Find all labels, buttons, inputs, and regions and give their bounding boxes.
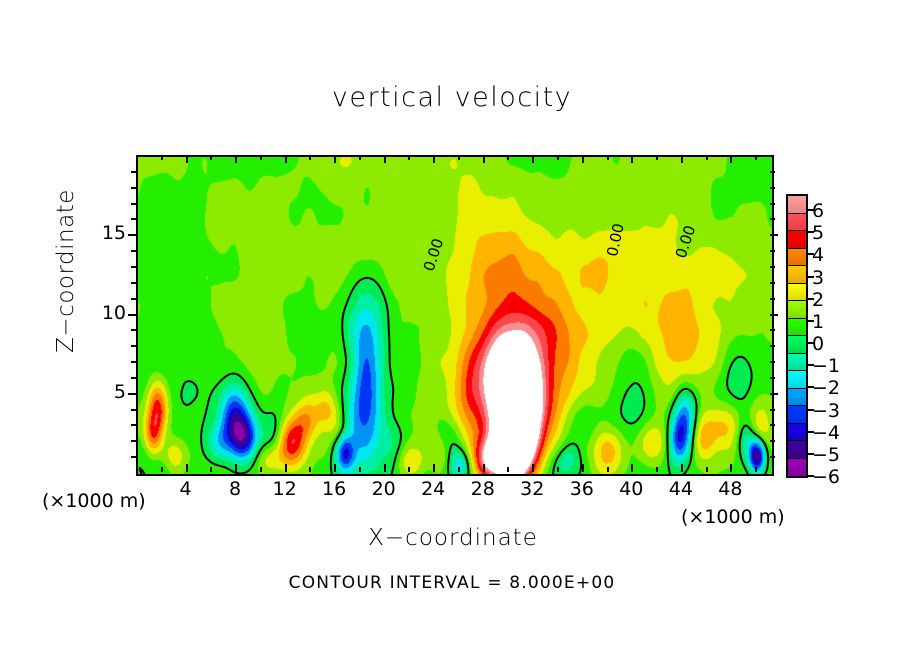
y-tick-label: 5 xyxy=(86,381,126,403)
x-tick-mark xyxy=(582,155,584,163)
colorbar-band xyxy=(788,231,806,249)
x-tick-mark xyxy=(235,464,237,472)
colorbar-band xyxy=(788,301,806,319)
x-tick-mark xyxy=(730,464,732,472)
x-tick-mark xyxy=(483,155,485,163)
colorbar-band xyxy=(788,354,806,372)
x-minor-tick-mark xyxy=(161,155,163,160)
colorbar-band xyxy=(788,424,806,442)
x-tick-mark xyxy=(334,464,336,472)
y-tick-mark xyxy=(770,393,778,395)
svg-text:0.00: 0.00 xyxy=(420,236,447,273)
x-minor-tick-mark xyxy=(408,155,410,160)
colorbar-label: −2 xyxy=(812,377,840,399)
x-minor-tick-mark xyxy=(706,155,708,160)
y-tick-mark xyxy=(770,234,778,236)
contour-label: 0.00 xyxy=(420,236,447,273)
colorbar-band xyxy=(788,406,806,424)
x-minor-tick-mark xyxy=(260,155,262,160)
x-tick-mark xyxy=(631,155,633,163)
y-minor-tick-mark xyxy=(770,250,775,252)
y-minor-tick-mark xyxy=(770,266,775,268)
colorbar-label: 3 xyxy=(812,267,824,289)
x-minor-tick-mark xyxy=(656,467,658,472)
colorbar[interactable] xyxy=(786,194,808,478)
y-minor-tick-mark xyxy=(770,171,775,173)
x-tick-mark xyxy=(433,155,435,163)
colorbar-band xyxy=(788,389,806,407)
x-minor-tick-mark xyxy=(309,155,311,160)
x-tick-mark xyxy=(730,155,732,163)
y-minor-tick-mark xyxy=(770,187,775,189)
x-minor-tick-mark xyxy=(260,467,262,472)
y-minor-tick-mark xyxy=(770,361,775,363)
y-minor-tick-mark xyxy=(131,409,136,411)
x-minor-tick-mark xyxy=(309,467,311,472)
y-minor-tick-mark xyxy=(770,282,775,284)
colorbar-label: −4 xyxy=(812,422,840,444)
y-tick-mark xyxy=(770,314,778,316)
x-tick-mark xyxy=(186,155,188,163)
colorbar-label: 4 xyxy=(812,244,824,266)
y-axis-label: Z−coordinate xyxy=(53,161,79,381)
x-tick-label: 48 xyxy=(700,478,760,500)
y-minor-tick-mark xyxy=(131,282,136,284)
colorbar-label: 6 xyxy=(812,200,824,222)
y-minor-tick-mark xyxy=(770,440,775,442)
x-minor-tick-mark xyxy=(656,155,658,160)
y-minor-tick-mark xyxy=(131,424,136,426)
y-tick-label: 10 xyxy=(86,302,126,324)
x-minor-tick-mark xyxy=(607,467,609,472)
y-minor-tick-mark xyxy=(131,329,136,331)
y-minor-tick-mark xyxy=(131,456,136,458)
zero-contour-lines: 0.000.000.00 xyxy=(138,157,772,474)
colorbar-band xyxy=(788,214,806,232)
colorbar-label: −6 xyxy=(812,466,840,488)
colorbar-band xyxy=(788,249,806,267)
plot-area[interactable]: 0.000.000.00 xyxy=(136,155,774,476)
x-tick-mark xyxy=(285,464,287,472)
colorbar-label: 5 xyxy=(812,222,824,244)
x-tick-mark xyxy=(532,155,534,163)
colorbar-label: 0 xyxy=(812,333,824,355)
x-tick-mark xyxy=(631,464,633,472)
x-tick-mark xyxy=(334,155,336,163)
x-minor-tick-mark xyxy=(458,155,460,160)
y-minor-tick-mark xyxy=(131,345,136,347)
x-minor-tick-mark xyxy=(210,155,212,160)
page-title: vertical velocity xyxy=(0,82,904,113)
x-tick-mark xyxy=(235,155,237,163)
x-tick-mark xyxy=(384,155,386,163)
y-minor-tick-mark xyxy=(770,329,775,331)
colorbar-band xyxy=(788,441,806,459)
x-minor-tick-mark xyxy=(507,467,509,472)
colorbar-band xyxy=(788,284,806,302)
x-tick-mark xyxy=(681,155,683,163)
colorbar-band xyxy=(788,196,806,214)
x-minor-tick-mark xyxy=(557,155,559,160)
y-minor-tick-mark xyxy=(131,203,136,205)
x-tick-mark xyxy=(186,464,188,472)
colorbar-label: −3 xyxy=(812,400,840,422)
y-minor-tick-mark xyxy=(131,218,136,220)
x-tick-mark xyxy=(384,464,386,472)
y-minor-tick-mark xyxy=(770,456,775,458)
x-minor-tick-mark xyxy=(408,467,410,472)
y-minor-tick-mark xyxy=(770,409,775,411)
x-minor-tick-mark xyxy=(607,155,609,160)
y-tick-mark xyxy=(128,314,136,316)
colorbar-band xyxy=(788,266,806,284)
figure-root: vertical velocity 0.000.000.00 481216202… xyxy=(0,0,904,654)
x-minor-tick-mark xyxy=(161,467,163,472)
contour-label: 0.00 xyxy=(672,223,699,260)
x-minor-tick-mark xyxy=(359,467,361,472)
x-tick-mark xyxy=(681,464,683,472)
x-minor-tick-mark xyxy=(755,155,757,160)
x-tick-mark xyxy=(532,464,534,472)
colorbar-label: 2 xyxy=(812,289,824,311)
colorbar-band xyxy=(788,371,806,389)
y-minor-tick-mark xyxy=(770,424,775,426)
svg-text:0.00: 0.00 xyxy=(603,222,628,258)
y-minor-tick-mark xyxy=(131,440,136,442)
colorbar-band xyxy=(788,459,806,477)
x-tick-mark xyxy=(285,155,287,163)
x-minor-tick-mark xyxy=(458,467,460,472)
y-tick-mark xyxy=(128,393,136,395)
x-tick-mark xyxy=(582,464,584,472)
y-minor-tick-mark xyxy=(770,345,775,347)
x-minor-tick-mark xyxy=(359,155,361,160)
y-minor-tick-mark xyxy=(131,377,136,379)
x-minor-tick-mark xyxy=(755,467,757,472)
y-minor-tick-mark xyxy=(131,361,136,363)
colorbar-label: 1 xyxy=(812,311,824,333)
y-minor-tick-mark xyxy=(770,218,775,220)
x-minor-tick-mark xyxy=(507,155,509,160)
y-minor-tick-mark xyxy=(131,187,136,189)
y-minor-tick-mark xyxy=(770,298,775,300)
y-minor-tick-mark xyxy=(770,377,775,379)
x-minor-tick-mark xyxy=(210,467,212,472)
colorbar-band xyxy=(788,319,806,337)
colorbar-label: −1 xyxy=(812,355,840,377)
x-tick-mark xyxy=(433,464,435,472)
svg-text:0.00: 0.00 xyxy=(672,223,699,260)
y-minor-tick-mark xyxy=(131,266,136,268)
y-minor-tick-mark xyxy=(131,171,136,173)
contour-label: 0.00 xyxy=(603,222,628,258)
y-axis-units: (×1000 m) xyxy=(42,490,146,512)
y-tick-mark xyxy=(128,234,136,236)
x-minor-tick-mark xyxy=(557,467,559,472)
y-minor-tick-mark xyxy=(131,298,136,300)
x-tick-mark xyxy=(483,464,485,472)
x-minor-tick-mark xyxy=(706,467,708,472)
y-minor-tick-mark xyxy=(131,250,136,252)
x-axis-label: X−coordinate xyxy=(136,525,770,551)
colorbar-label: −5 xyxy=(812,444,840,466)
x-axis-units: (×1000 m) xyxy=(681,506,785,528)
y-minor-tick-mark xyxy=(770,203,775,205)
contour-interval-caption: CONTOUR INTERVAL = 8.000E+00 xyxy=(0,573,904,593)
colorbar-band xyxy=(788,336,806,354)
y-tick-label: 15 xyxy=(86,222,126,244)
